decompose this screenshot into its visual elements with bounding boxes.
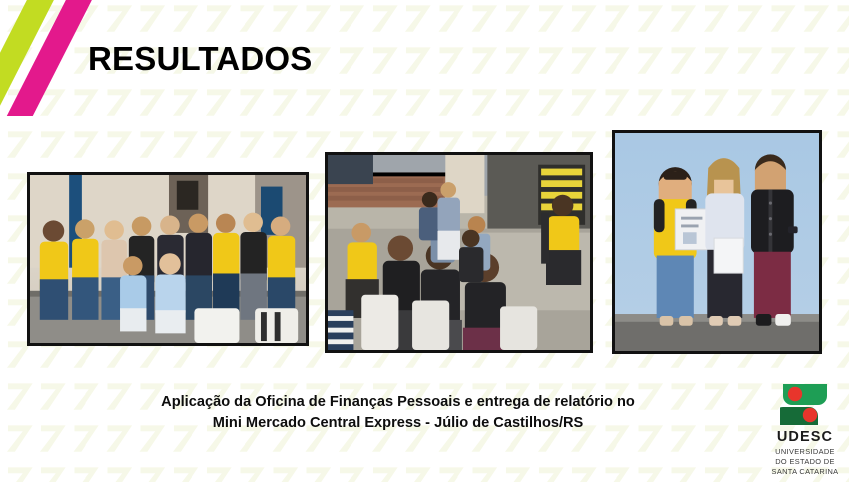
photo-workshop-audience: [325, 152, 593, 353]
udesc-tagline-line-1: UNIVERSIDADE: [762, 447, 848, 457]
photo-workshop-audience-image: [328, 155, 590, 350]
presentation-slide: RESULTADOS: [0, 0, 849, 482]
udesc-tagline-line-3: SANTA CATARINA: [762, 467, 848, 477]
caption-line-1: Aplicação da Oficina de Finanças Pessoai…: [62, 392, 734, 413]
udesc-logo: UDESC UNIVERSIDADE DO ESTADO DE SANTA CA…: [762, 382, 848, 474]
udesc-emblem-shape: [780, 382, 830, 427]
photo-group-yellow-shirts-image: [30, 175, 306, 343]
slide-title: RESULTADOS: [88, 40, 312, 78]
caption-line-2: Mini Mercado Central Express - Júlio de …: [62, 413, 734, 434]
photo-group-yellow-shirts: [27, 172, 309, 346]
udesc-emblem-icon: [780, 382, 830, 427]
udesc-wordmark: UDESC: [762, 430, 848, 445]
slide-caption: Aplicação da Oficina de Finanças Pessoai…: [62, 392, 734, 433]
udesc-tagline-line-2: DO ESTADO DE: [762, 457, 848, 467]
udesc-tagline: UNIVERSIDADE DO ESTADO DE SANTA CATARINA: [762, 447, 848, 478]
photo-report-delivery-image: [615, 133, 819, 351]
photo-report-delivery: [612, 130, 822, 354]
